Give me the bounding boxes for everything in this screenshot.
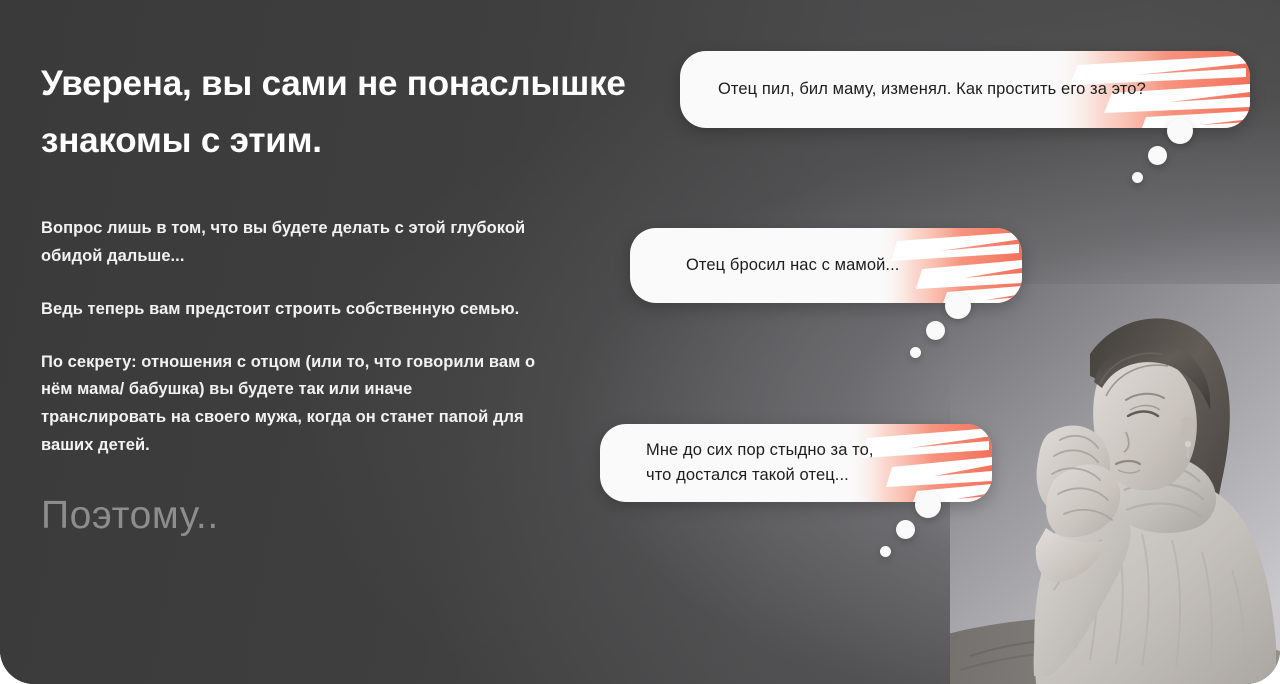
text-column: Уверена, вы сами не понаслышке знакомы с… bbox=[41, 56, 681, 538]
thought-tail-3 bbox=[600, 492, 730, 572]
tail-dot-small bbox=[1132, 172, 1143, 183]
paragraph-3: По секрету: отношения с отцом (или то, ч… bbox=[41, 349, 541, 460]
thought-bubble-3: Мне до сих пор стыдно за то, что досталс… bbox=[600, 424, 992, 502]
tail-dot-medium bbox=[896, 520, 915, 539]
tail-dot-small bbox=[910, 347, 921, 358]
bubble-text-2: Отец бросил нас с мамой... bbox=[686, 253, 899, 278]
bubble-body-2: Отец бросил нас с мамой... bbox=[630, 228, 1022, 303]
bubble-text-3: Мне до сих пор стыдно за то, что досталс… bbox=[646, 438, 874, 488]
outro-text: Поэтому.. bbox=[41, 495, 681, 538]
paragraph-2: Ведь теперь вам предстоит строить собств… bbox=[41, 296, 541, 324]
tail-dot-medium bbox=[926, 321, 945, 340]
tail-dot-large bbox=[915, 492, 941, 518]
tail-dot-small bbox=[880, 546, 891, 557]
woman-photo bbox=[950, 284, 1280, 684]
thought-tail-2 bbox=[630, 293, 760, 373]
tail-dot-large bbox=[945, 293, 971, 319]
bubble-body-1: Отец пил, бил маму, изменял. Как простит… bbox=[680, 51, 1250, 128]
paragraph-1: Вопрос лишь в том, что вы будете делать … bbox=[41, 215, 541, 270]
thought-tail-1 bbox=[680, 118, 810, 198]
body-copy: Вопрос лишь в том, что вы будете делать … bbox=[41, 215, 541, 459]
slide-canvas: Уверена, вы сами не понаслышке знакомы с… bbox=[0, 0, 1280, 684]
page-title: Уверена, вы сами не понаслышке знакомы с… bbox=[41, 56, 681, 169]
bubble-text-1: Отец пил, бил маму, изменял. Как простит… bbox=[718, 77, 1146, 102]
thought-bubble-2: Отец бросил нас с мамой... bbox=[630, 228, 1022, 303]
tail-dot-large bbox=[1167, 118, 1193, 144]
tail-dot-medium bbox=[1148, 146, 1167, 165]
bubble-body-3: Мне до сих пор стыдно за то, что досталс… bbox=[600, 424, 992, 502]
thought-bubble-1: Отец пил, бил маму, изменял. Как простит… bbox=[680, 51, 1250, 128]
